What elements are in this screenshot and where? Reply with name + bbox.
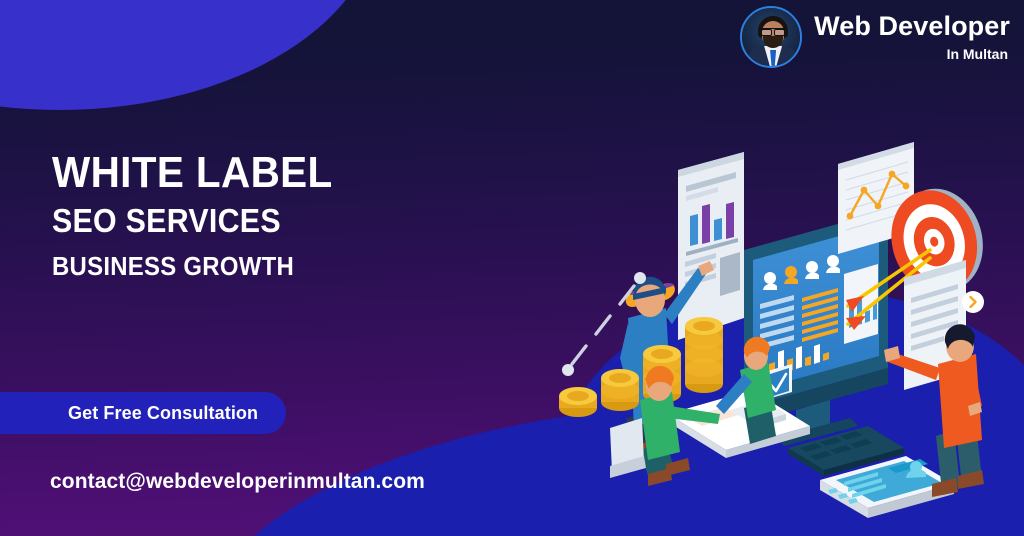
headline-line-3: BUSINESS GROWTH	[52, 252, 333, 281]
decorative-blob-top-left	[0, 0, 380, 110]
headline-line-2: SEO SERVICES	[52, 203, 333, 240]
avatar-glasses	[761, 28, 785, 33]
headline-line-1: WHITE LABEL	[52, 150, 333, 197]
hero-headline: WHITE LABEL SEO SERVICES BUSINESS GROWTH	[52, 150, 357, 281]
seo-analytics-illustration	[548, 118, 1024, 536]
brand-title: Web Developer	[814, 13, 1010, 40]
avatar	[740, 6, 802, 68]
brand-text: Web Developer In Multan	[814, 13, 1010, 61]
brand-logo[interactable]: Web Developer In Multan	[740, 6, 1010, 68]
brand-subtitle: In Multan	[947, 47, 1008, 61]
promotional-banner: Web Developer In Multan WHITE LABEL SEO …	[0, 0, 1024, 536]
contact-email-link[interactable]: contact@webdeveloperinmultan.com	[50, 470, 425, 494]
carousel-next-icon[interactable]	[962, 291, 984, 313]
get-free-consultation-button[interactable]: Get Free Consultation	[0, 392, 286, 434]
